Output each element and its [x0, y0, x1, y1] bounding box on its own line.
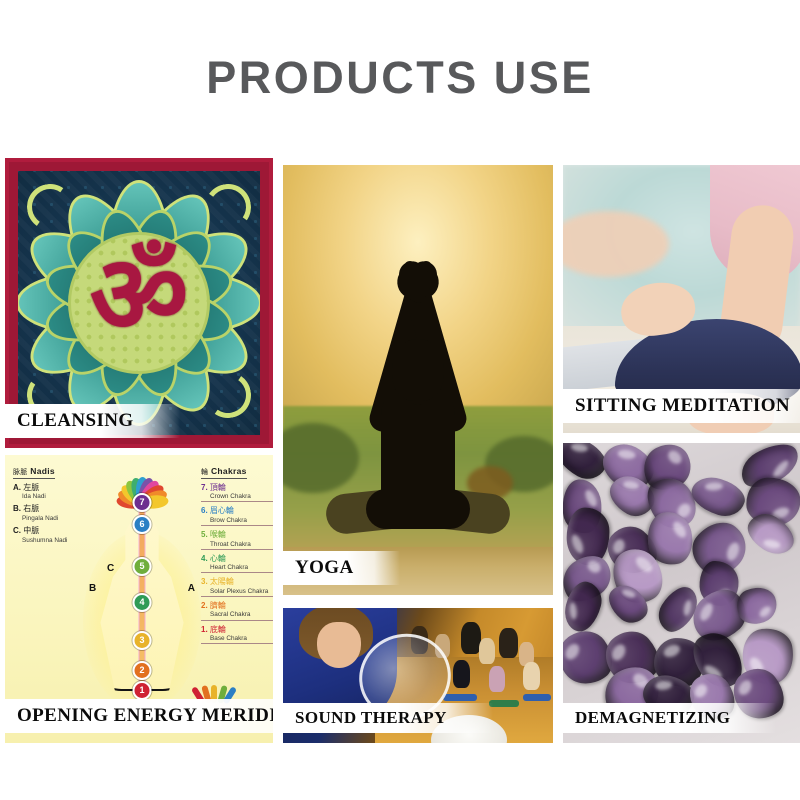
page-title: PRODUCTS USE: [0, 52, 800, 104]
caption-sound-therapy: SOUND THERAPY: [283, 703, 493, 733]
amethyst-stone: [687, 472, 749, 522]
caption-sitting-meditation: SITTING MEDITATION: [563, 389, 800, 423]
nadi-label-cn: 右脈: [23, 504, 39, 513]
chakra-label-cn: 頂輪: [210, 483, 226, 492]
chakra-label-en: Throat Chakra: [210, 541, 273, 548]
yoga-head: [392, 339, 444, 401]
panel-opening-energy-meridians[interactable]: 脉脈 Nadis A. 左脈Ida NadiB. 右脈Pingala NadiC…: [5, 455, 273, 743]
chakra-legend-item: 1. 底輪Base Chakra: [201, 626, 273, 645]
caption-demagnetizing: DEMAGNETIZING: [563, 703, 776, 733]
chakra-node-7: 7: [133, 493, 152, 512]
caption-cleansing: CLEANSING: [5, 404, 180, 438]
chakra-legend-item: 3. 太陽輪Solar Plexus Chakra: [201, 578, 273, 597]
nadi-label-cn: 左脈: [23, 483, 39, 492]
chakra-key: 3.: [201, 577, 210, 586]
chakra-label-cn: 太陽輪: [210, 577, 234, 586]
chakra-legend-item: 7. 頂輪Crown Chakra: [201, 484, 273, 503]
chakra-node-5: 5: [133, 557, 152, 576]
chakra-label-en: Solar Plexus Chakra: [210, 588, 273, 595]
yoga-mat: [489, 700, 519, 707]
yoga-lap: [366, 489, 470, 529]
nadi-label-cn: 中脈: [23, 526, 39, 535]
chakra-label-cn: 心輪: [210, 554, 226, 563]
chakras-header-en: Chakras: [211, 466, 247, 476]
caption-yoga: YOGA: [283, 551, 400, 585]
chakra-legend-item: 5. 喉輪Throat Chakra: [201, 531, 273, 550]
sound-participant: [461, 622, 481, 654]
chakra-node-4: 4: [133, 593, 152, 612]
panel-yoga[interactable]: YOGA: [283, 165, 553, 595]
infographic-page: PRODUCTS USE ॐ CLEANSING: [0, 0, 800, 800]
chakra-key: 2.: [201, 601, 210, 610]
chakras-legend: 輪 Chakras 7. 頂輪Crown Chakra6. 眉心輪Brow Ch…: [201, 467, 273, 649]
chakra-label-en: Base Chakra: [210, 635, 273, 642]
chakra-label-en: Heart Chakra: [210, 564, 273, 571]
nadis-header-en: Nadis: [30, 466, 55, 476]
chakra-key: 1.: [201, 625, 210, 634]
chakras-legend-rows: 7. 頂輪Crown Chakra6. 眉心輪Brow Chakra5. 喉輪T…: [201, 484, 273, 644]
chakra-label-cn: 喉輪: [210, 530, 226, 539]
nadis-header-cn: 脉脈: [13, 469, 28, 476]
sound-participant: [499, 628, 518, 658]
nadi-key: B.: [13, 504, 23, 513]
yoga-mat: [523, 694, 551, 701]
nadis-legend-header: 脉脈 Nadis: [13, 467, 55, 479]
panel-demagnetizing[interactable]: DEMAGNETIZING: [563, 443, 800, 743]
chakra-legend-item: 6. 眉心輪Brow Chakra: [201, 507, 273, 526]
nadi-key: A.: [13, 483, 23, 492]
chakra-key: 5.: [201, 530, 210, 539]
marker-b: B: [89, 583, 96, 594]
chakra-legend-item: 2. 臍輪Sacral Chakra: [201, 602, 273, 621]
nadi-key: C.: [13, 526, 23, 535]
chakra-node-1: 1: [133, 681, 152, 700]
caption-opening-energy-meridians: OPENING ENERGY MERIDIANS: [5, 699, 273, 733]
chakra-key: 4.: [201, 554, 210, 563]
chakra-label-cn: 眉心輪: [210, 506, 234, 515]
yoga-figure-silhouette: [330, 221, 506, 551]
chakras-legend-header: 輪 Chakras: [201, 467, 247, 479]
chakra-label-en: Brow Chakra: [210, 517, 273, 524]
panel-cleansing[interactable]: ॐ CLEANSING: [5, 158, 273, 448]
sound-participant: [453, 660, 470, 688]
chakra-node-3: 3: [133, 631, 152, 650]
chakras-header-cn: 輪: [201, 469, 208, 476]
chakra-label-cn: 底輪: [210, 625, 226, 634]
chakra-key: 7.: [201, 483, 210, 492]
yoga-mat: [443, 694, 477, 701]
sound-participant: [523, 662, 540, 690]
panel-sound-therapy[interactable]: SOUND THERAPY: [283, 608, 553, 743]
panel-sitting-meditation[interactable]: SITTING MEDITATION: [563, 165, 800, 433]
chakra-node-2: 2: [133, 661, 152, 680]
chakra-legend-item: 4. 心輪Heart Chakra: [201, 555, 273, 574]
sound-practitioner-face: [317, 622, 361, 668]
marker-a: A: [188, 583, 195, 594]
chakra-node-6: 6: [133, 515, 152, 534]
chakra-body-figure: 7654321 B A C: [83, 471, 201, 721]
marker-c: C: [107, 563, 114, 574]
chakra-label-cn: 臍輪: [210, 601, 226, 610]
sound-participant: [489, 666, 505, 692]
sound-participant: [479, 638, 495, 664]
chakra-label-en: Crown Chakra: [210, 493, 273, 500]
chakra-key: 6.: [201, 506, 210, 515]
chakra-label-en: Sacral Chakra: [210, 611, 273, 618]
